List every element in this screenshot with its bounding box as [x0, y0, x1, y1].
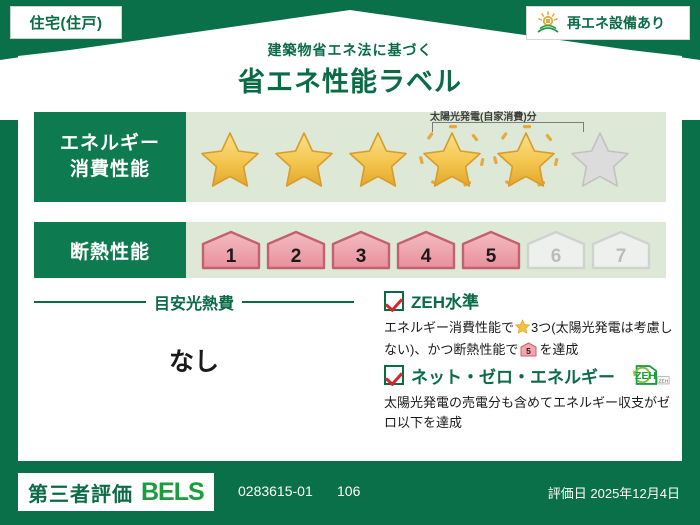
insulation-level-4-achieved: 4 [395, 229, 457, 271]
utility-cost-heading: 目安光熱費 [34, 290, 354, 314]
insulation-performance-value: 1234567 [186, 222, 666, 278]
criterion-1-header: ZEH水準 [384, 288, 676, 313]
svg-text:ZEH: ZEH [659, 378, 669, 384]
category-tag: 住宅(住戸) [10, 6, 122, 39]
insulation-performance-row: 断熱性能 1234567 [34, 222, 666, 278]
checkbox-checked-icon [384, 291, 404, 311]
insulation-level-7-inactive: 7 [590, 229, 652, 271]
bels-certification-box: 第三者評価 BELS [18, 473, 214, 511]
svg-text:5: 5 [486, 246, 497, 267]
certificate-number-secondary: 106 [337, 483, 360, 499]
label-footer: 第三者評価 BELS 0283615-01 106 評価日 2025年12月4日 [0, 461, 700, 525]
energy-performance-label: 住宅(住戸) 再エネ設備あり 建築物省エネ法に基づく 省エネ性能ラベル 太陽光発… [0, 0, 700, 525]
svg-text:5: 5 [526, 346, 531, 356]
divider-right [242, 301, 354, 303]
checkbox-checked-icon [384, 365, 404, 385]
star-2-filled [268, 121, 340, 193]
label-title: 省エネ性能ラベル [0, 60, 700, 99]
renewable-energy-badge: 再エネ設備あり [526, 6, 690, 40]
evaluation-date: 評価日 2025年12月4日 [548, 483, 680, 502]
svg-text:ZEH: ZEH [635, 370, 656, 382]
insulation-label-panel: 断熱性能 [34, 222, 186, 278]
criterion-2-header: ネット・ゼロ・エネルギー ZEH ZEH [384, 362, 676, 388]
star-1-filled [194, 121, 266, 193]
insulation-label: 断熱性能 [70, 237, 150, 264]
divider-left [34, 301, 146, 303]
svg-text:6: 6 [551, 246, 562, 267]
energy-label-line1: エネルギー [60, 131, 160, 157]
insulation-level-3-achieved: 3 [330, 229, 392, 271]
criterion-zeh-standard: ZEH水準 エネルギー消費性能で3つ(太陽光発電は考慮しない)、かつ断熱性能で5… [384, 288, 676, 360]
insulation-level-1-achieved: 1 [200, 229, 262, 271]
criterion-1-text-part1: エネルギー消費性能で [384, 320, 514, 335]
utility-cost-section: 目安光熱費 なし [34, 290, 354, 378]
label-subtitle: 建築物省エネ法に基づく [0, 40, 700, 60]
zeh-logo-icon: ZEH ZEH [625, 362, 671, 388]
svg-text:2: 2 [291, 246, 302, 267]
utility-cost-value: なし [34, 342, 354, 378]
bels-logo-text: BELS [141, 478, 204, 507]
solar-annotation-bracket [432, 122, 584, 132]
criterion-1-text-part3: を達成 [539, 342, 578, 357]
insulation-level-scale: 1234567 [186, 222, 666, 278]
inline-star-icon [515, 319, 530, 340]
criterion-1-star-count: 3つ [531, 320, 551, 335]
utility-cost-label: 目安光熱費 [154, 290, 234, 314]
energy-performance-label-panel: エネルギー 消費性能 [34, 112, 186, 202]
third-party-label: 第三者評価 [28, 478, 133, 507]
renewable-badge-label: 再エネ設備あり [567, 13, 665, 33]
energy-label-line2: 消費性能 [70, 157, 150, 183]
sun-icon [535, 11, 561, 35]
category-tag-label: 住宅(住戸) [30, 12, 103, 33]
svg-text:3: 3 [356, 246, 367, 267]
criterion-1-description: エネルギー消費性能で3つ(太陽光発電は考慮しない)、かつ断熱性能で5を達成 [384, 318, 676, 360]
star-3-filled [342, 121, 414, 193]
solar-annotation-text: 太陽光発電(自家消費)分 [430, 108, 537, 123]
svg-text:1: 1 [226, 246, 237, 267]
criterion-2-title: ネット・ゼロ・エネルギー [411, 363, 615, 388]
insulation-level-6-inactive: 6 [525, 229, 587, 271]
criterion-2-description: 太陽光発電の売電分も含めてエネルギー収支がゼロ以下を達成 [384, 393, 676, 433]
criterion-1-title: ZEH水準 [411, 288, 479, 313]
energy-performance-value [186, 112, 666, 202]
svg-text:4: 4 [421, 246, 432, 267]
insulation-level-5-achieved: 5 [460, 229, 522, 271]
criterion-net-zero-energy: ネット・ゼロ・エネルギー ZEH ZEH 太陽光発電の売電分も含めてエネルギー収… [384, 362, 676, 433]
certificate-number: 0283615-01 [238, 483, 313, 499]
svg-text:7: 7 [616, 246, 627, 267]
inline-house-level-icon: 5 [520, 342, 537, 357]
insulation-level-2-achieved: 2 [265, 229, 327, 271]
star-rating [186, 112, 666, 202]
